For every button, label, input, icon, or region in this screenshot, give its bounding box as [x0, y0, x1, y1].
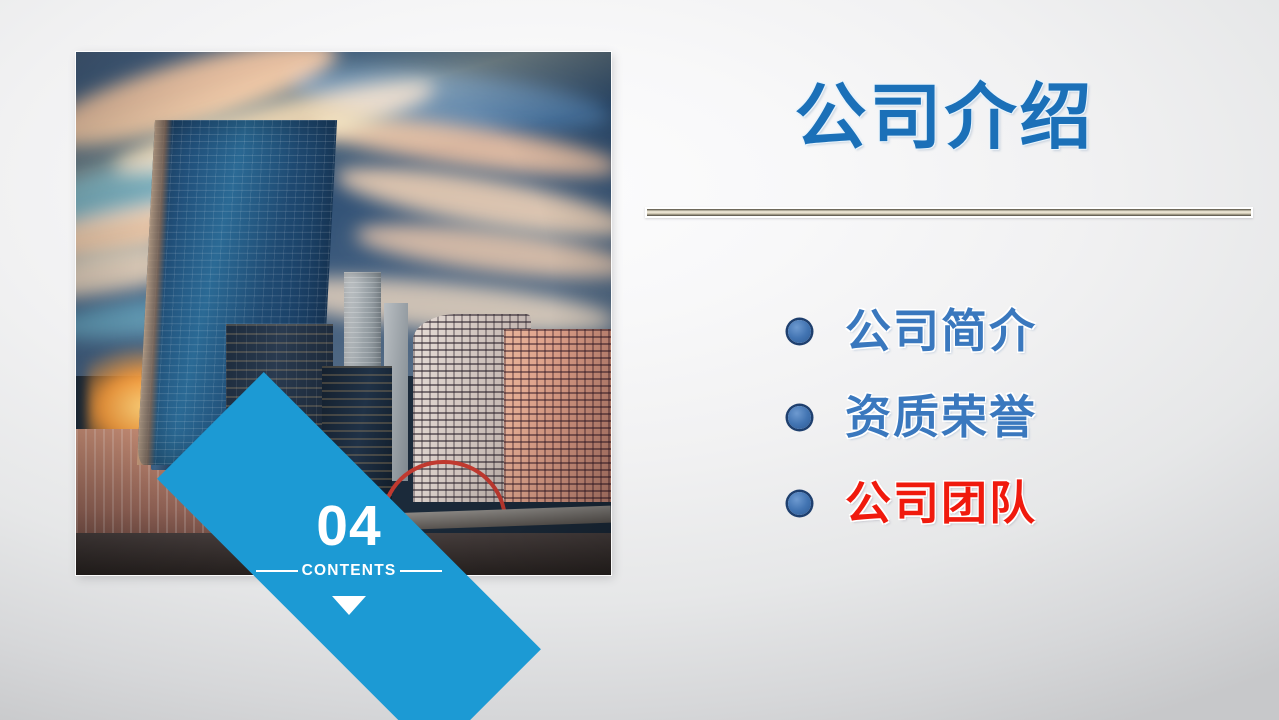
list-item-active[interactable]: 公司团队 [788, 460, 1258, 546]
bullet-dot-icon [788, 406, 811, 429]
list-item[interactable]: 公司简介 [788, 288, 1258, 374]
bullet-dot-icon [788, 320, 811, 343]
title-divider-bevel [647, 209, 1251, 216]
content-column: 公司介绍 公司简介 资质荣誉 公司团队 [640, 0, 1279, 720]
list-item-label: 公司简介 [845, 308, 1037, 354]
bullet-dot-icon [788, 492, 811, 515]
list-item-label: 公司团队 [845, 480, 1037, 526]
list-item-label: 资质荣誉 [845, 394, 1037, 440]
title-divider [645, 207, 1253, 218]
list-item[interactable]: 资质荣誉 [788, 374, 1258, 460]
page-title: 公司介绍 [640, 82, 1249, 154]
presentation-slide: 04 CONTENTS 公司介绍 公司简介 资质荣誉 公司团队 [0, 0, 1279, 720]
agenda-list: 公司简介 资质荣誉 公司团队 [788, 288, 1258, 546]
